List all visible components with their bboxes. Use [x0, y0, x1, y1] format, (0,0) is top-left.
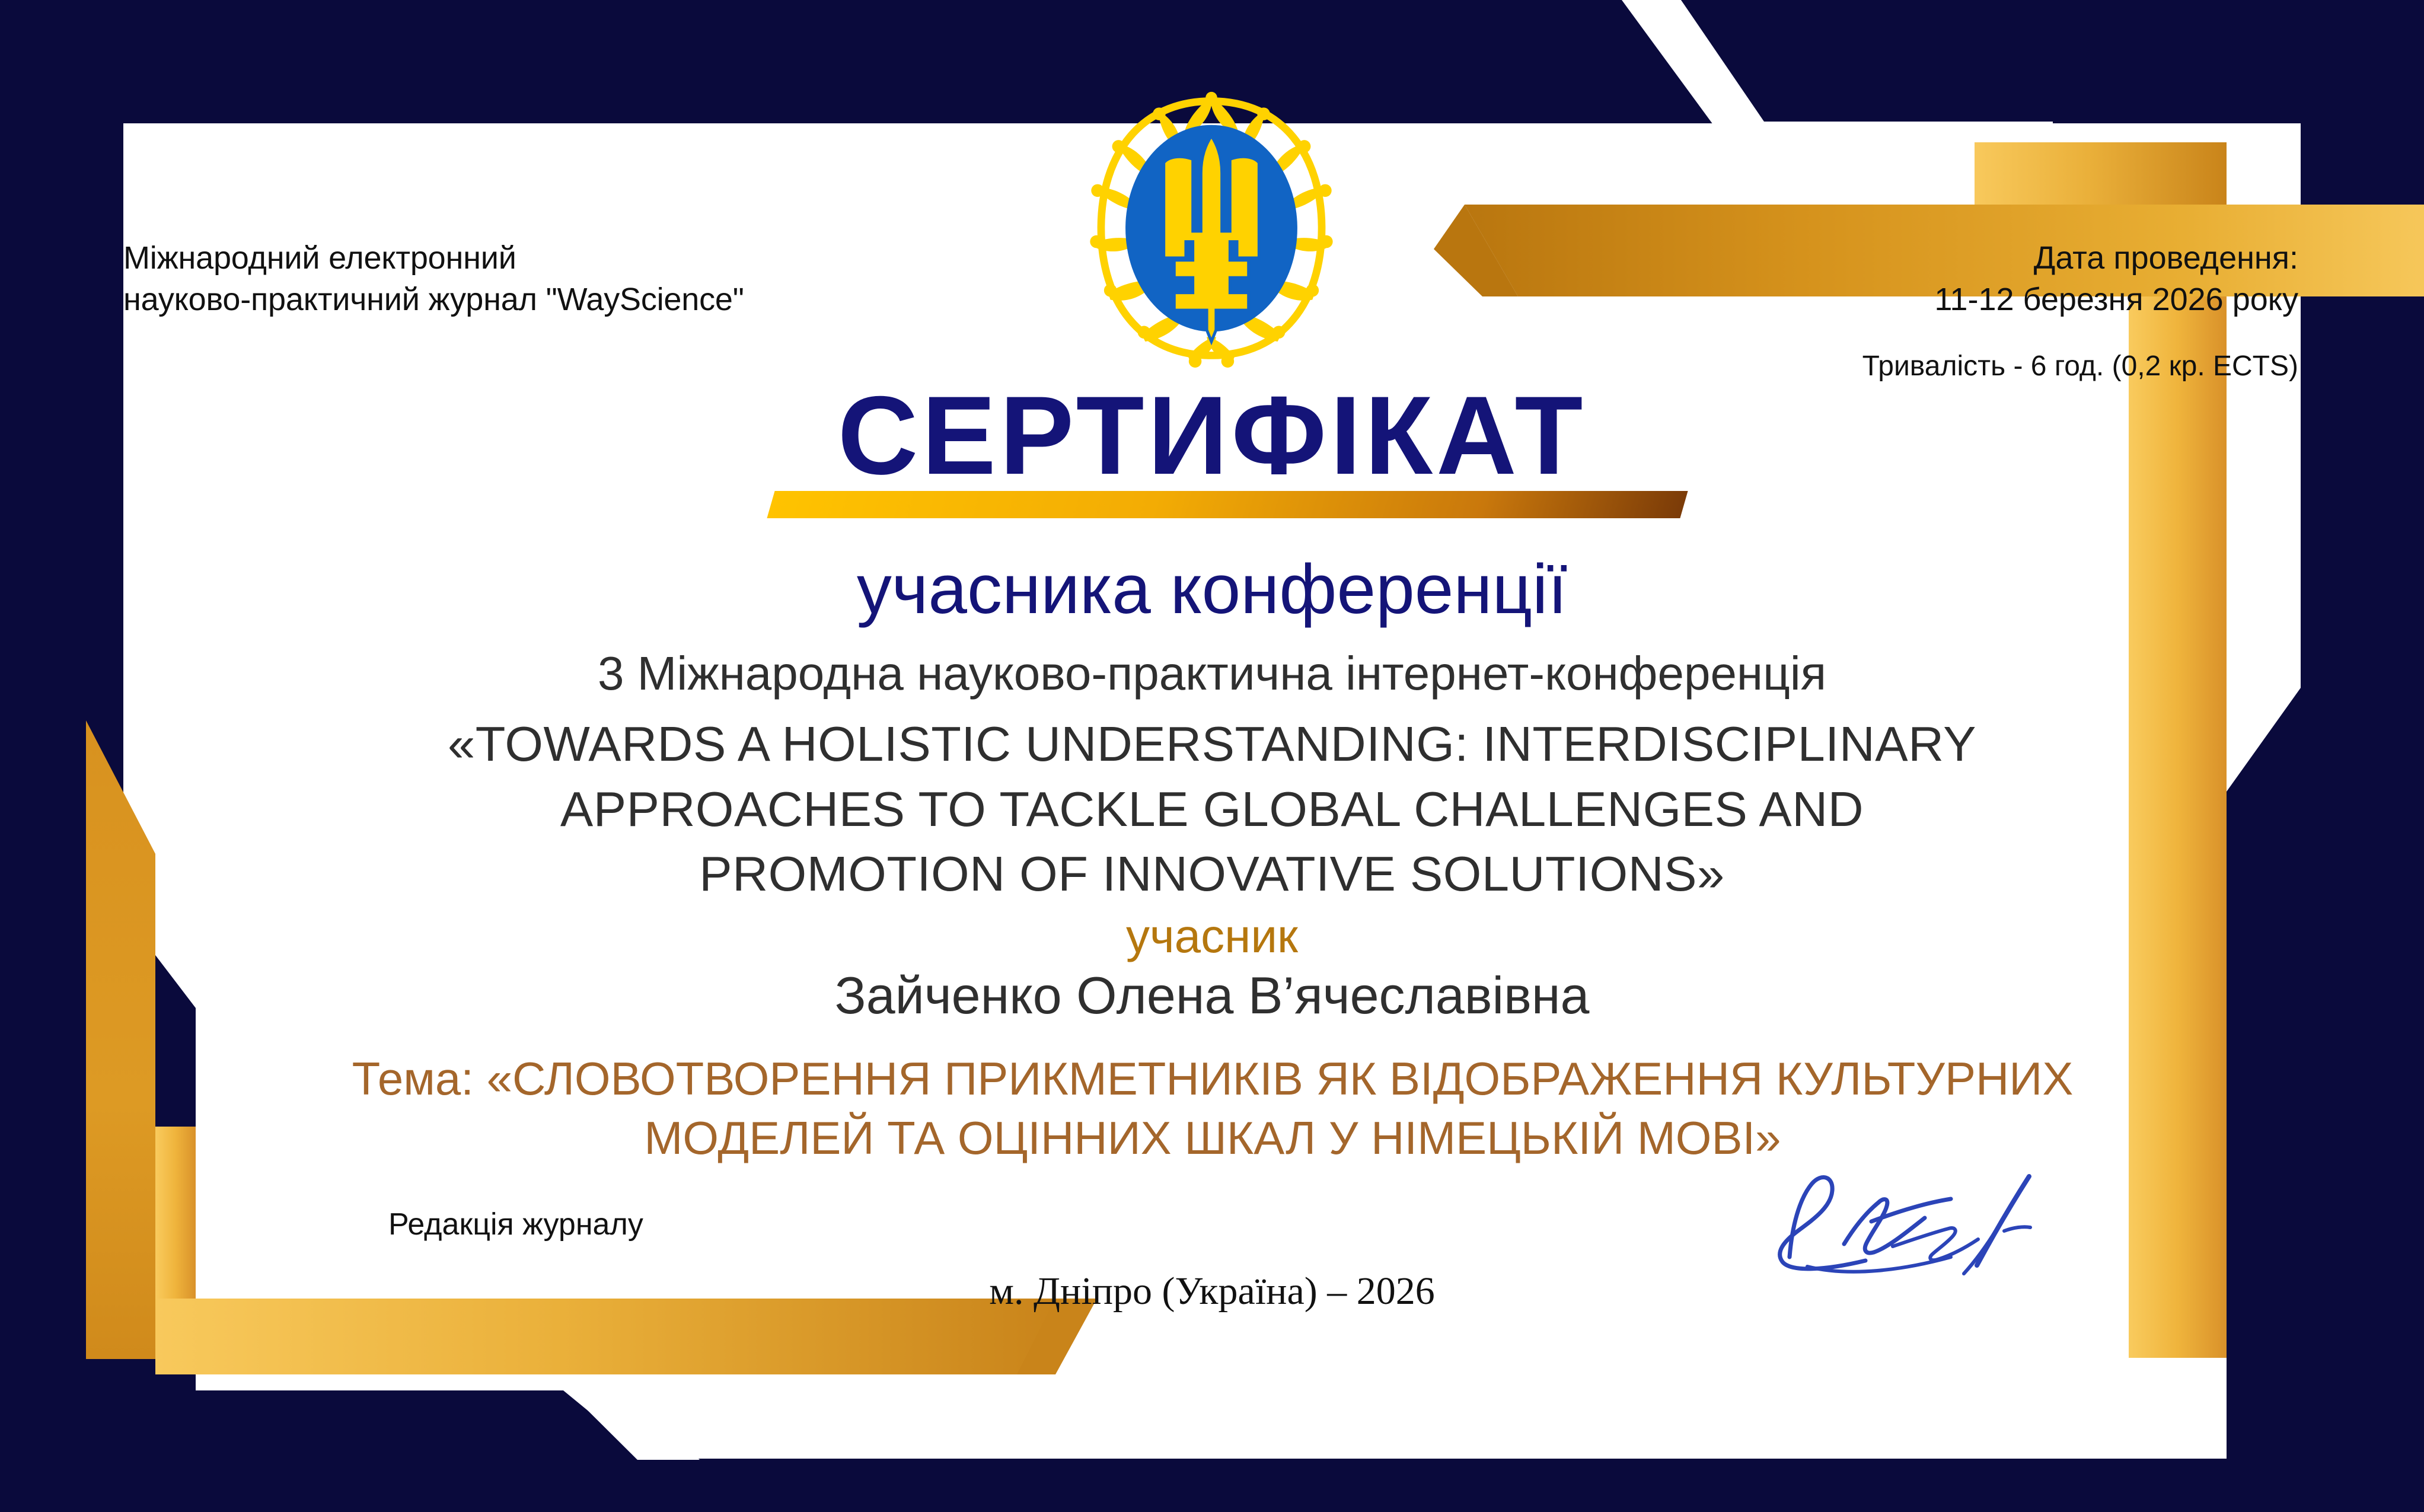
ukraine-coat-of-arms-icon	[1072, 86, 1351, 371]
conference-en-line-2: APPROACHES TO TACKLE GLOBAL CHALLENGES A…	[0, 777, 2424, 842]
participant-label: учасник	[0, 910, 2424, 962]
title-underline-bar	[767, 491, 1688, 518]
theme-line-1: Тема: «СЛОВОТВОРЕННЯ ПРИКМЕТНИКІВ ЯК ВІД…	[178, 1050, 2247, 1109]
page-title: СЕРТИФІКАТ	[838, 379, 1587, 491]
journal-line-2: науково-практичний журнал "WayScience"	[123, 279, 894, 320]
participant-name: Зайченко Олена В’ячеславівна	[0, 965, 2424, 1025]
journal-block: Міжнародний електронний науково-практичн…	[123, 237, 894, 320]
presentation-theme: Тема: «СЛОВОТВОРЕННЯ ПРИКМЕТНИКІВ ЯК ВІД…	[178, 1050, 2247, 1168]
editorial-label: Редакція журналу	[388, 1207, 643, 1242]
certificate-title-wrap: СЕРТИФІКАТ	[0, 379, 2424, 491]
conference-en-line-3: PROMOTION OF INNOVATIVE SOLUTIONS»	[0, 841, 2424, 907]
event-date-block: Дата проведення: 11-12 березня 2026 року…	[1557, 237, 2298, 384]
conference-en-title: «TOWARDS A HOLISTIC UNDERSTANDING: INTER…	[0, 712, 2424, 907]
certificate-subtitle: учасника конференції	[0, 551, 2424, 629]
date-label: Дата проведення:	[1557, 237, 2298, 279]
conference-ua-line: 3 Міжнародна науково-практична інтернет-…	[0, 646, 2424, 701]
certificate-page: Міжнародний електронний науково-практичн…	[0, 0, 2424, 1512]
date-value: 11-12 березня 2026 року	[1557, 279, 2298, 320]
conference-en-line-1: «TOWARDS A HOLISTIC UNDERSTANDING: INTER…	[0, 712, 2424, 777]
signature-image	[1755, 1156, 2063, 1287]
journal-line-1: Міжнародний електронний	[123, 237, 894, 279]
